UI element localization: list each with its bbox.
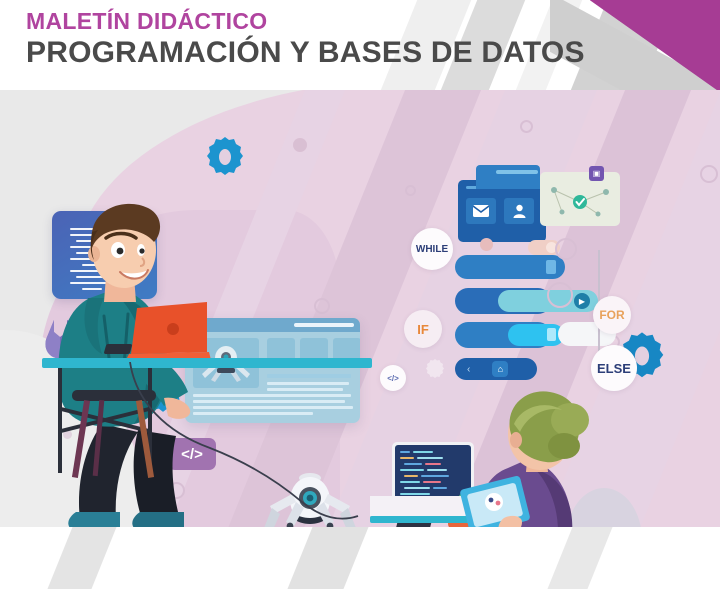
poster: MALETÍN DIDÁCTICO PROGRAMACIÓN Y BASES D… bbox=[0, 0, 720, 589]
mail-icon bbox=[466, 198, 496, 224]
decor-dot bbox=[480, 238, 493, 251]
keyword-bubble-else: ELSE bbox=[591, 345, 637, 391]
decor-ring bbox=[555, 238, 577, 260]
mini-code-tag-bubble: </> bbox=[380, 365, 406, 391]
poster-header: MALETÍN DIDÁCTICO PROGRAMACIÓN Y BASES D… bbox=[0, 0, 720, 90]
ui-card-network[interactable] bbox=[540, 172, 620, 226]
ui-card-tab[interactable] bbox=[476, 165, 540, 189]
play-icon[interactable]: ▶ bbox=[574, 293, 590, 309]
poster-kicker: MALETÍN DIDÁCTICO bbox=[26, 8, 585, 34]
decor-ring bbox=[314, 298, 330, 314]
address-bar[interactable] bbox=[294, 323, 354, 327]
ui-card-mail[interactable] bbox=[458, 180, 546, 242]
ui-list-row[interactable] bbox=[455, 255, 565, 279]
poster-title: PROGRAMACIÓN Y BASES DE DATOS bbox=[26, 35, 585, 71]
keyword-label: ELSE bbox=[597, 361, 631, 376]
gear-icon bbox=[425, 358, 445, 385]
decor-ring bbox=[547, 282, 573, 308]
decor-ring bbox=[405, 185, 416, 196]
phone-icon bbox=[104, 344, 133, 354]
ui-badge-icon[interactable]: ▣ bbox=[589, 166, 604, 181]
decor-ring bbox=[700, 165, 718, 183]
keyword-label: IF bbox=[417, 322, 429, 337]
keyword-bubble-for: FOR bbox=[593, 296, 631, 334]
user-icon bbox=[504, 198, 534, 224]
ui-list-row-accent[interactable] bbox=[508, 324, 564, 346]
header-text-block: MALETÍN DIDÁCTICO PROGRAMACIÓN Y BASES D… bbox=[26, 8, 585, 71]
ui-nav-row[interactable]: ‹ ⌂ bbox=[455, 358, 537, 380]
desk-leg bbox=[58, 368, 62, 473]
keyword-bubble-while: WHILE bbox=[411, 228, 453, 270]
decor-dot bbox=[293, 138, 307, 152]
home-icon[interactable]: ⌂ bbox=[492, 361, 508, 377]
chevron-left-icon[interactable]: ‹ bbox=[467, 364, 470, 375]
decor-ring bbox=[520, 120, 533, 133]
illustration-scene: [ ] ✕ bbox=[0, 90, 720, 589]
keyword-label: WHILE bbox=[416, 244, 448, 255]
header-corner-magenta bbox=[590, 0, 720, 90]
keyword-bubble-if: IF bbox=[404, 310, 442, 348]
keyword-label: FOR bbox=[599, 308, 624, 322]
gear-icon bbox=[205, 135, 245, 184]
